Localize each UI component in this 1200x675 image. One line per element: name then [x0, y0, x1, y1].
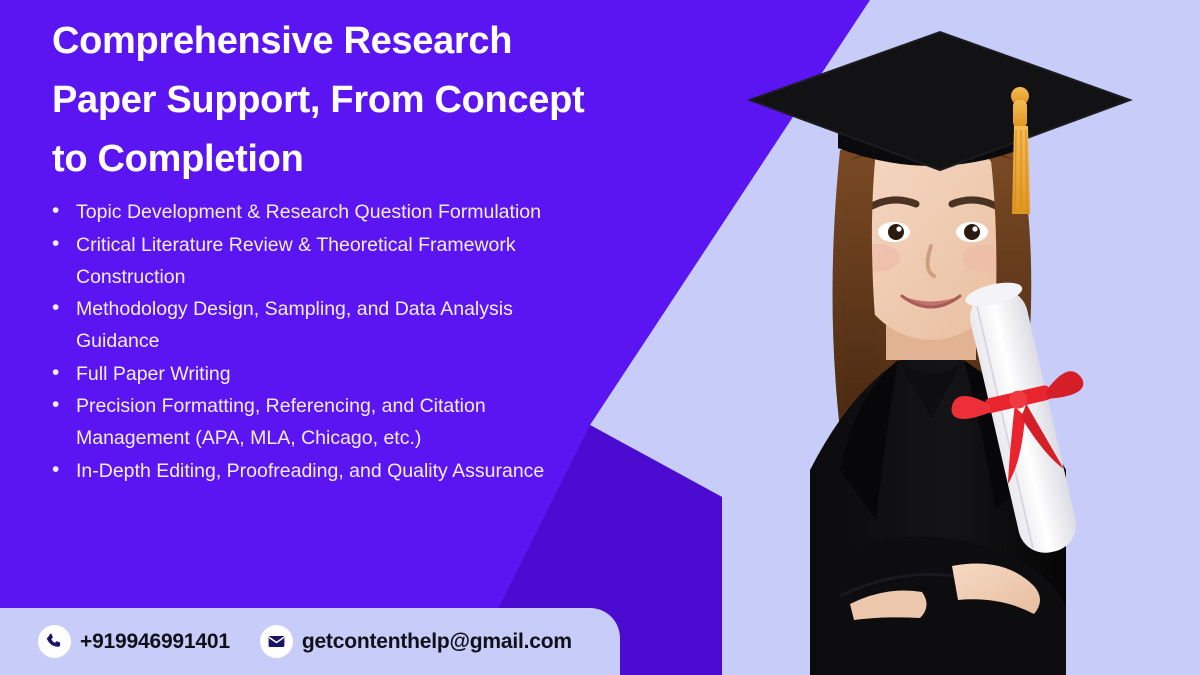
service-label: In-Depth Editing, Proofreading, and Qual…	[76, 460, 544, 482]
list-item: Full Paper Writing	[46, 358, 591, 390]
service-label: Full Paper Writing	[76, 363, 231, 385]
list-item: Precision Formatting, Referencing, and C…	[46, 390, 591, 454]
service-label: Methodology Design, Sampling, and Data A…	[76, 298, 513, 352]
graduate-photo	[690, 0, 1200, 675]
service-label: Critical Literature Review & Theoretical…	[76, 234, 516, 288]
envelope-icon	[260, 625, 293, 658]
page-title: Comprehensive Research Paper Support, Fr…	[52, 12, 612, 189]
service-label: Topic Development & Research Question Fo…	[76, 201, 541, 223]
service-label: Precision Formatting, Referencing, and C…	[76, 395, 486, 449]
list-item: Topic Development & Research Question Fo…	[46, 196, 591, 228]
services-list: Topic Development & Research Question Fo…	[46, 196, 591, 487]
list-item: Methodology Design, Sampling, and Data A…	[46, 293, 591, 357]
contact-phone[interactable]: +919946991401	[38, 625, 230, 658]
list-item: Critical Literature Review & Theoretical…	[46, 229, 591, 293]
contact-bar: +919946991401 getcontenthelp@gmail.com	[0, 608, 620, 675]
list-item: In-Depth Editing, Proofreading, and Qual…	[46, 455, 591, 487]
contact-email[interactable]: getcontenthelp@gmail.com	[260, 625, 572, 658]
phone-icon	[38, 625, 71, 658]
phone-number: +919946991401	[80, 630, 230, 654]
promo-banner: Comprehensive Research Paper Support, Fr…	[0, 0, 1200, 675]
email-address: getcontenthelp@gmail.com	[302, 630, 572, 654]
